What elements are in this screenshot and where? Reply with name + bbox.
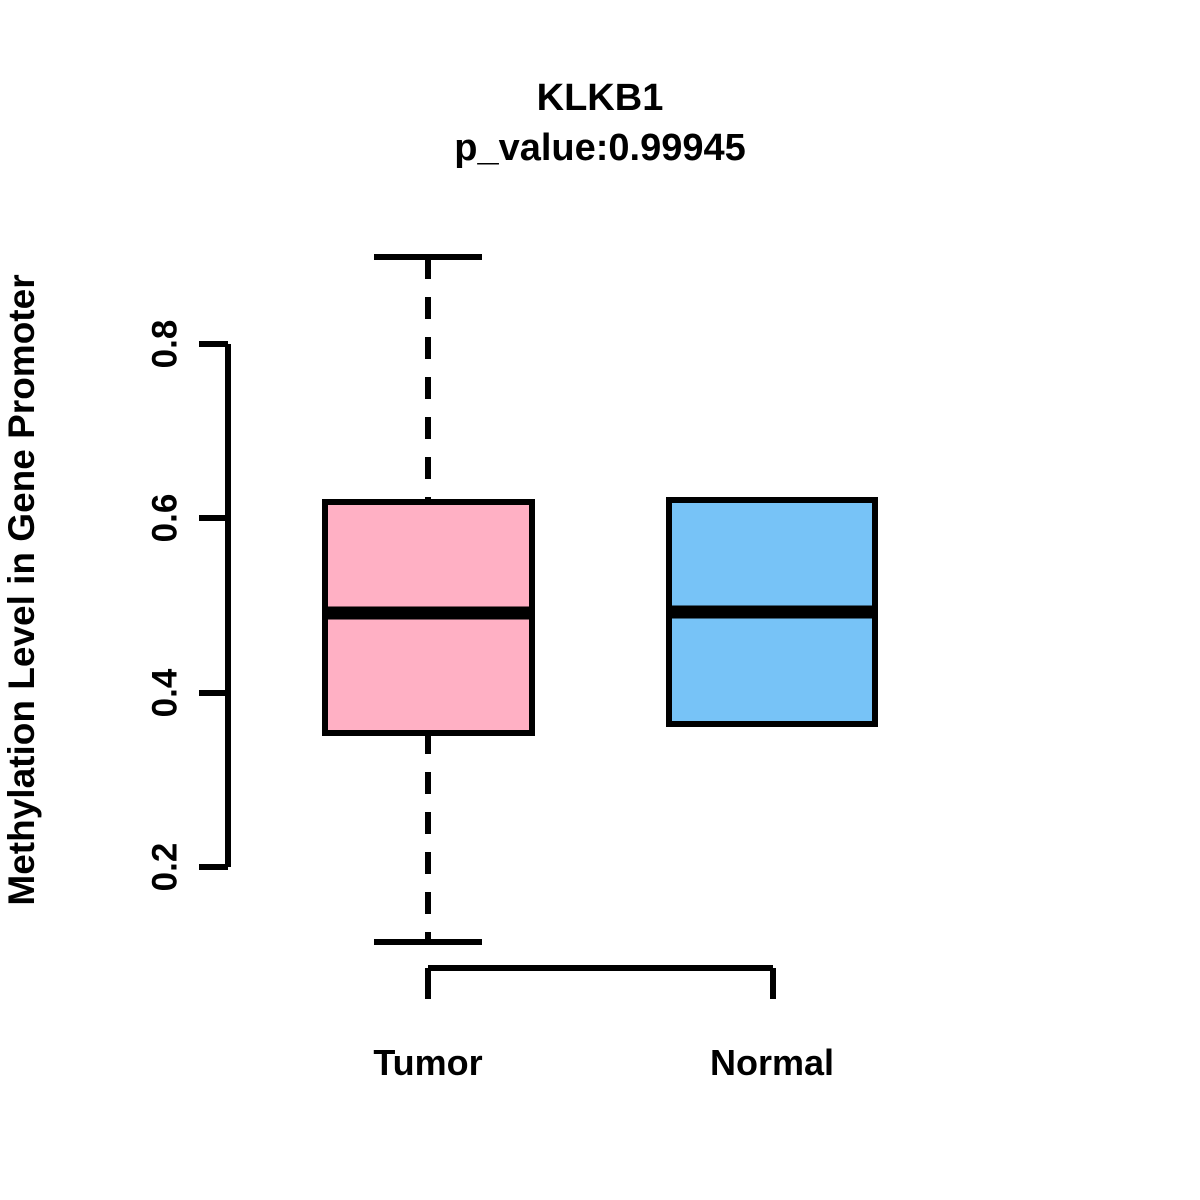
boxplot-canvas: KLKB1 p_value:0.99945 Methylation Level … [0,0,1200,1200]
y-tick-label-0.8: 0.8 [146,320,185,369]
chart-subtitle: p_value:0.99945 [454,127,746,169]
x-tick-label-normal: Normal [710,1042,834,1083]
box-group-normal [669,500,875,724]
y-tick-label-0.2: 0.2 [146,843,185,892]
y-axis-title: Methylation Level in Gene Promoter [1,274,42,905]
y-tick-label-0.4: 0.4 [146,668,185,717]
chart-title: KLKB1 [537,77,664,119]
y-tick-label-0.6: 0.6 [146,494,185,543]
figure-background [0,0,1200,1200]
x-tick-label-tumor: Tumor [373,1042,482,1083]
boxplot-figure: KLKB1 p_value:0.99945 Methylation Level … [0,0,1200,1200]
